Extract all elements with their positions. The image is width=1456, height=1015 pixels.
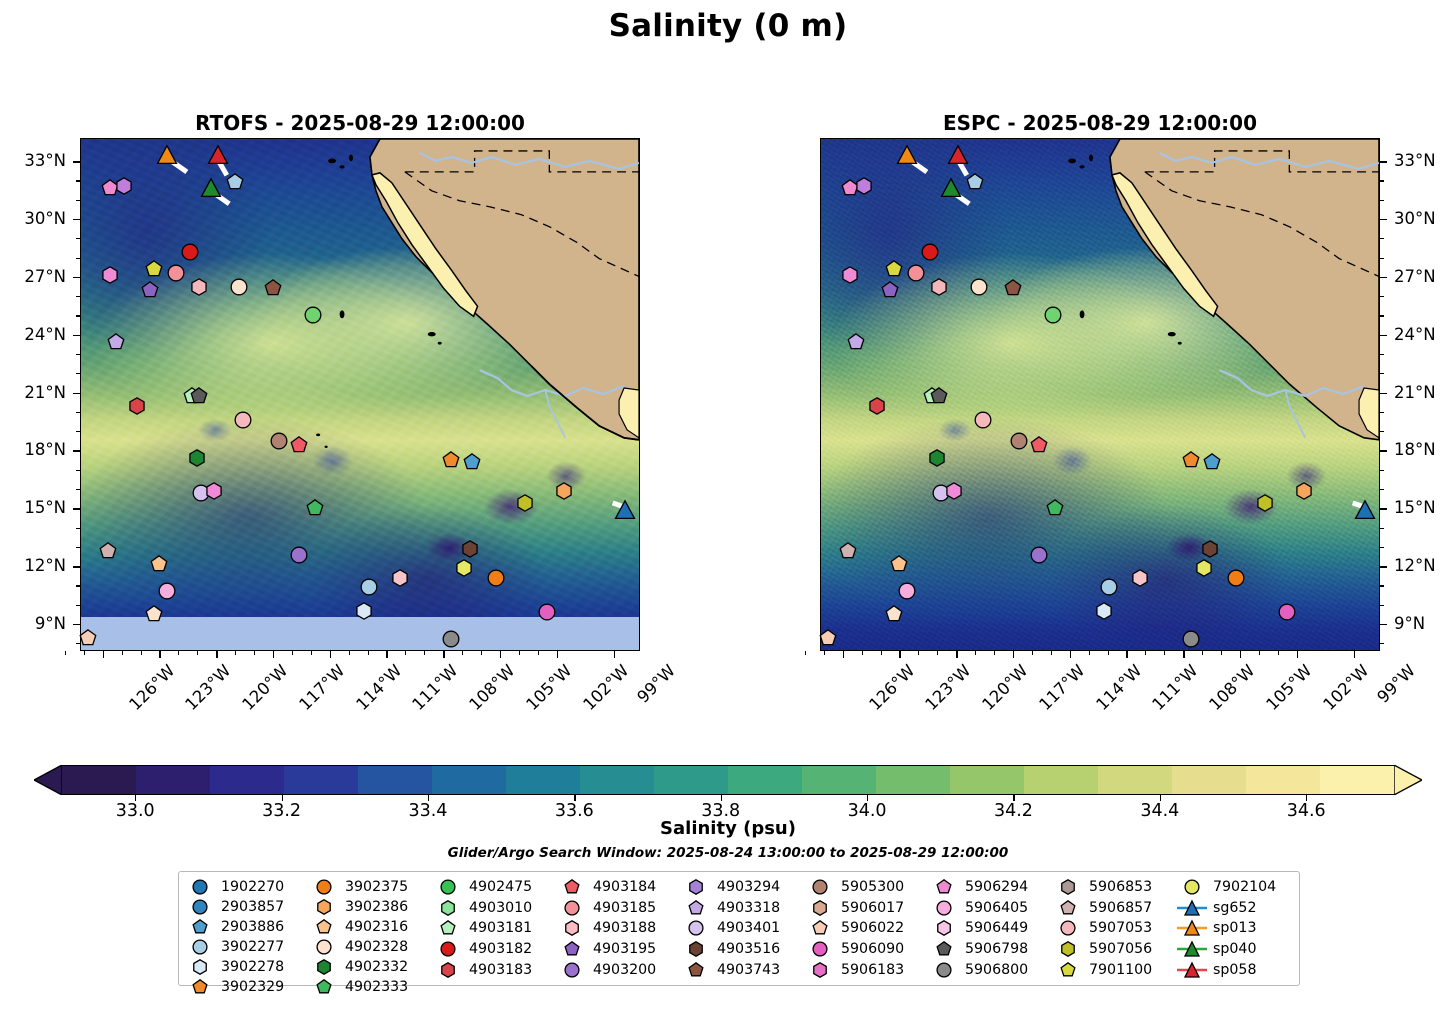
legend-item[interactable]: sg652 [1177,898,1289,919]
x-minor-tick [1202,651,1203,655]
legend-item[interactable]: 4903743 [681,959,805,980]
y-minor-tick [1380,643,1384,644]
glider-marker[interactable] [208,145,229,166]
argo-float-marker[interactable] [1004,280,1021,297]
legend-item[interactable]: 4902333 [309,977,433,997]
argo-float-marker[interactable] [1031,546,1048,563]
argo-float-marker[interactable] [1201,540,1218,557]
x-tick-label: 126°W [865,661,918,714]
legend-item[interactable]: 5907053 [1053,918,1177,939]
legend-item[interactable]: 5906183 [805,959,929,980]
legend-item[interactable]: 4903318 [681,898,805,919]
legend-marker-icon [309,897,339,917]
y-minor-tick [1380,238,1384,239]
legend-label: 4902475 [469,879,532,895]
legend-item[interactable]: 4902316 [309,917,433,937]
argo-float-marker[interactable] [970,278,987,295]
glider-marker[interactable] [897,145,918,166]
legend-marker-icon [557,898,587,918]
y-minor-tick [76,605,80,606]
x-tick [386,651,387,658]
legend-marker-icon [929,898,959,918]
legend-item[interactable]: 3902278 [185,957,309,977]
legend-marker-icon [929,960,959,980]
map-canvas-rtofs[interactable] [80,138,640,651]
argo-float-marker[interactable] [1256,494,1273,511]
legend-label: 4903188 [593,920,656,936]
argo-float-marker[interactable] [855,178,872,195]
legend-item[interactable]: 3902329 [185,977,309,997]
legend-item[interactable]: 5906405 [929,898,1053,919]
x-tick [273,651,274,658]
legend-marker-icon [929,877,959,897]
legend-item[interactable]: 5906857 [1053,898,1177,919]
x-tick-label: 123°W [922,661,975,714]
legend-label: 3902386 [345,899,408,915]
x-tick-label: 108°W [1206,661,1259,714]
argo-float-marker[interactable] [842,266,859,283]
y-minor-tick [76,373,80,374]
legend-item[interactable]: sp013 [1177,918,1289,939]
x-minor-tick [481,651,482,655]
legend-item[interactable]: 4903010 [433,898,557,919]
x-tick-label: 108°W [466,661,519,714]
argo-float-marker[interactable] [899,583,916,600]
argo-float-marker[interactable] [361,579,378,596]
argo-float-marker[interactable] [442,631,459,648]
legend-item[interactable]: 5905300 [805,877,929,898]
legend-item[interactable]: 3902277 [185,937,309,957]
glider-marker[interactable] [614,500,635,521]
x-tick [500,651,501,658]
x-minor-tick [462,651,463,655]
x-minor-tick [862,651,863,655]
legend-marker-icon [185,957,215,977]
glider-marker[interactable] [157,145,178,166]
argo-float-marker[interactable] [847,334,864,351]
argo-float-marker[interactable] [967,174,984,191]
legend-marker-icon [681,918,711,938]
legend-item[interactable]: 4903516 [681,939,805,960]
argo-float-marker[interactable] [539,604,556,621]
y-tick-label: 15°N [1394,498,1436,517]
x-tick-label: 99°W [1373,661,1419,707]
legend-item[interactable]: 4903195 [557,939,681,960]
legend-label: 4903401 [717,920,780,936]
x-minor-tick [918,651,919,655]
argo-float-marker[interactable] [463,454,480,471]
legend-item[interactable]: 5907056 [1053,939,1177,960]
legend-marker-icon [681,960,711,980]
panel-title-espc: ESPC - 2025-08-29 12:00:00 [820,111,1380,135]
legend-item[interactable]: 2903857 [185,897,309,917]
legend-label: 5906090 [841,941,904,957]
argo-float-marker[interactable] [230,278,247,295]
argo-float-marker[interactable] [191,388,208,405]
legend-item[interactable]: 4902328 [309,937,433,957]
x-tick [443,651,444,658]
legend-item[interactable]: 4903200 [557,959,681,980]
colorbar: 33.033.233.433.633.834.034.234.434.6 [34,765,1422,795]
argo-float-marker[interactable] [291,436,308,453]
x-minor-tick [254,651,255,655]
x-minor-tick [1089,651,1090,655]
argo-float-marker[interactable] [946,482,963,499]
legend-item[interactable]: 4903184 [557,877,681,898]
legend-label: 5906022 [841,920,904,936]
legend-label: 4903516 [717,941,780,957]
argo-float-marker[interactable] [488,569,505,586]
argo-float-marker[interactable] [1101,579,1118,596]
x-tick [1070,651,1071,658]
argo-float-marker[interactable] [456,560,473,577]
argo-float-marker[interactable] [191,278,208,295]
legend-label: 4903743 [717,962,780,978]
panel-title-rtofs: RTOFS - 2025-08-29 12:00:00 [80,111,640,135]
argo-float-marker[interactable] [1182,631,1199,648]
x-minor-tick [1108,651,1109,655]
legend-item[interactable]: 4903183 [433,959,557,980]
legend-item[interactable]: 4903294 [681,877,805,898]
glider-marker[interactable] [948,145,969,166]
y-minor-tick [76,547,80,548]
colorbar-extend-max [1394,765,1422,795]
legend-marker-icon [681,939,711,959]
legend-marker-icon [433,877,463,897]
y-tick-label: 9°N [35,614,66,633]
legend-column: 49031844903185490318849031954903200 [557,877,681,980]
y-tick-label: 12°N [1394,556,1436,575]
glider-marker[interactable] [1354,500,1375,521]
x-tick-label: 120°W [979,661,1032,714]
legend-item[interactable]: 5906294 [929,877,1053,898]
x-minor-tick [1145,651,1146,655]
x-tick [1297,651,1298,658]
argo-float-marker[interactable] [304,307,321,324]
x-minor-tick [805,651,806,655]
legend-label: 2903886 [221,919,284,935]
x-tick [1354,651,1355,658]
argo-float-marker[interactable] [1279,604,1296,621]
y-tick-label: 30°N [1394,209,1436,228]
y-minor-tick [76,296,80,297]
argo-float-marker[interactable] [929,450,946,467]
legend-item[interactable]: 4903182 [433,939,557,960]
legend-item[interactable]: 5906449 [929,918,1053,939]
legend-marker-icon [805,898,835,918]
argo-float-marker[interactable] [1296,482,1313,499]
x-minor-tick [178,651,179,655]
argo-float-marker[interactable] [102,266,119,283]
legend-item[interactable]: 1902270 [185,877,309,897]
legend-marker-icon [185,977,215,997]
colorbar-extend-min [34,765,62,795]
legend-label: 4903195 [593,941,656,957]
y-minor-tick [1380,315,1384,316]
y-tick-label: 21°N [24,383,66,402]
legend-column: 59068535906857590705359070567901100 [1053,877,1177,980]
legend-item[interactable]: 5906853 [1053,877,1177,898]
argo-float-marker[interactable] [206,482,223,499]
y-minor-tick [1380,470,1384,471]
x-tick-label: 111°W [1149,661,1202,714]
legend-marker-icon [929,939,959,959]
argo-float-marker[interactable] [516,494,533,511]
y-tick-label: 21°N [1394,383,1436,402]
argo-float-marker[interactable] [100,542,117,559]
argo-float-marker[interactable] [264,280,281,297]
x-tick-label: 120°W [239,661,292,714]
y-minor-tick [76,431,80,432]
colorbar-title: Salinity (psu) [0,818,1456,839]
legend-item[interactable]: 5906800 [929,959,1053,980]
legend-label: 5906857 [1089,900,1152,916]
land-overlay-rtofs [81,139,639,650]
legend-marker-icon [1053,939,1083,959]
legend-label: 3902277 [221,939,284,955]
legend-marker-icon [309,917,339,937]
argo-float-marker[interactable] [1031,436,1048,453]
x-minor-tick [122,651,123,655]
y-minor-tick [1380,180,1384,181]
argo-float-marker[interactable] [931,388,948,405]
legend-label: 5906017 [841,900,904,916]
x-minor-tick [1051,651,1052,655]
legend-marker-icon [805,939,835,959]
argo-float-marker[interactable] [151,556,168,573]
legend-label: 4903200 [593,962,656,978]
legend-marker-icon [557,960,587,980]
legend-marker-icon [309,977,339,997]
y-tick [1380,450,1387,451]
y-minor-tick [1380,585,1384,586]
argo-float-marker[interactable] [1196,560,1213,577]
platform-legend: 1902270290385729038863902277390227839023… [178,871,1300,986]
argo-float-marker[interactable] [1046,500,1063,517]
y-tick-label: 33°N [1394,151,1436,170]
y-minor-tick [76,489,80,490]
y-minor-tick [76,238,80,239]
x-tick-label: 114°W [352,661,405,714]
legend-label: 4903318 [717,900,780,916]
legend-label: 5907056 [1089,941,1152,957]
legend-marker-icon [929,918,959,938]
x-tick-label: 126°W [125,661,178,714]
argo-float-marker[interactable] [270,432,287,449]
argo-float-marker[interactable] [107,334,124,351]
y-minor-tick [1380,605,1384,606]
legend-label: 5906183 [841,962,904,978]
y-tick [1380,508,1387,509]
argo-float-marker[interactable] [1044,307,1061,324]
argo-float-marker[interactable] [931,278,948,295]
argo-float-marker[interactable] [1131,569,1148,586]
legend-label: 5905300 [841,879,904,895]
y-minor-tick [1380,258,1384,259]
y-minor-tick [76,412,80,413]
legend-item[interactable]: 7901100 [1053,959,1177,980]
x-tick [614,651,615,658]
argo-float-marker[interactable] [181,243,198,260]
argo-float-marker[interactable] [291,546,308,563]
legend-label: 4903183 [469,962,532,978]
argo-float-marker[interactable] [234,411,251,428]
argo-float-marker[interactable] [556,482,573,499]
argo-float-marker[interactable] [840,542,857,559]
x-tick [1240,651,1241,658]
y-tick-label: 27°N [24,267,66,286]
argo-float-marker[interactable] [145,606,162,623]
x-tick-label: 99°W [633,661,679,707]
legend-marker-icon [433,960,463,980]
legend-marker-icon [557,939,587,959]
argo-float-marker[interactable] [168,265,185,282]
legend-item[interactable]: 2903886 [185,917,309,937]
x-tick-label: 111°W [409,661,462,714]
argo-float-marker[interactable] [868,398,885,415]
legend-item[interactable]: 4902475 [433,877,557,898]
legend-item[interactable]: 5906022 [805,918,929,939]
argo-float-marker[interactable] [145,261,162,278]
y-tick [73,161,80,162]
argo-float-marker[interactable] [115,178,132,195]
argo-float-marker[interactable] [1182,452,1199,469]
map-panel-espc: ESPC - 2025-08-29 12:00:00 [820,138,1380,651]
y-minor-tick [1380,296,1384,297]
legend-item[interactable]: 3902375 [309,877,433,897]
x-tick [1013,651,1014,658]
y-tick [1380,161,1387,162]
land-overlay-espc [821,139,1379,650]
x-tick [216,651,217,658]
legend-label: 3902375 [345,879,408,895]
y-tick-label: 33°N [24,151,66,170]
legend-marker-icon [681,877,711,897]
x-minor-tick [84,651,85,655]
x-minor-tick [1221,651,1222,655]
legend-label: sp040 [1213,941,1256,957]
map-canvas-espc[interactable] [820,138,1380,651]
legend-column: 7902104sg652sp013sp040sp058 [1177,877,1289,980]
y-minor-tick [76,180,80,181]
argo-float-marker[interactable] [908,265,925,282]
legend-marker-icon [805,960,835,980]
argo-float-marker[interactable] [1010,432,1027,449]
argo-float-marker[interactable] [159,583,176,600]
argo-float-marker[interactable] [442,452,459,469]
x-minor-tick [141,651,142,655]
y-tick [1380,277,1387,278]
legend-column: 1902270290385729038863902277390227839023… [185,877,309,980]
legend-item[interactable]: 3902386 [309,897,433,917]
argo-float-marker[interactable] [921,243,938,260]
x-minor-tick [424,651,425,655]
legend-label: sp058 [1213,962,1256,978]
argo-float-marker[interactable] [1228,569,1245,586]
argo-float-marker[interactable] [461,540,478,557]
argo-float-marker[interactable] [355,602,372,619]
argo-float-marker[interactable] [128,398,145,415]
argo-float-marker[interactable] [306,500,323,517]
legend-marker-icon [185,937,215,957]
legend-column: 49024754903010490318149031824903183 [433,877,557,980]
legend-item[interactable]: 5906090 [805,939,929,960]
legend-marker-icon [185,917,215,937]
legend-label: 4902328 [345,939,408,955]
y-minor-tick [76,528,80,529]
glider-marker[interactable] [200,178,221,199]
y-tick [73,508,80,509]
legend-item[interactable]: 4902332 [309,957,433,977]
legend-marker-icon [1177,877,1207,897]
legend-marker-icon [557,877,587,897]
legend-item[interactable]: 5906017 [805,898,929,919]
legend-label: 5906800 [965,962,1028,978]
legend-label: 5906853 [1089,879,1152,895]
y-tick [73,450,80,451]
y-minor-tick [1380,547,1384,548]
y-minor-tick [1380,354,1384,355]
x-minor-tick [1259,651,1260,655]
argo-float-marker[interactable] [227,174,244,191]
legend-label: 5907053 [1089,920,1152,936]
x-tick [1126,651,1127,658]
glider-marker[interactable] [940,178,961,199]
x-tick-label: 102°W [579,661,632,714]
y-tick-label: 12°N [24,556,66,575]
legend-item[interactable]: 4903188 [557,918,681,939]
argo-float-marker[interactable] [891,556,908,573]
legend-item[interactable]: 5906798 [929,939,1053,960]
legend-marker-icon [1177,918,1207,938]
argo-float-marker[interactable] [1095,602,1112,619]
x-tick [899,651,900,658]
legend-item[interactable]: 4903401 [681,918,805,939]
argo-float-marker[interactable] [974,411,991,428]
legend-column: 59053005906017590602259060905906183 [805,877,929,980]
y-minor-tick [1380,200,1384,201]
legend-item[interactable]: 7902104 [1177,877,1289,898]
argo-float-marker[interactable] [1203,454,1220,471]
y-tick [73,566,80,567]
legend-label: 4903010 [469,900,532,916]
y-tick [73,277,80,278]
argo-float-marker[interactable] [819,629,836,646]
legend-item[interactable]: sp058 [1177,959,1289,980]
y-tick [1380,566,1387,567]
argo-float-marker[interactable] [885,606,902,623]
legend-item[interactable]: 4903185 [557,898,681,919]
legend-marker-icon [1053,877,1083,897]
legend-label: sg652 [1213,900,1256,916]
argo-float-marker[interactable] [391,569,408,586]
argo-float-marker[interactable] [189,450,206,467]
x-minor-tick [349,651,350,655]
legend-label: 4903182 [469,941,532,957]
y-tick-label: 18°N [24,440,66,459]
argo-float-marker[interactable] [142,282,159,299]
argo-float-marker[interactable] [79,629,96,646]
x-minor-tick [235,651,236,655]
legend-item[interactable]: 4903181 [433,918,557,939]
x-minor-tick [519,651,520,655]
legend-marker-icon [433,939,463,959]
y-minor-tick [76,585,80,586]
legend-item[interactable]: sp040 [1177,939,1289,960]
argo-float-marker[interactable] [885,261,902,278]
x-minor-tick [65,651,66,655]
argo-float-marker[interactable] [882,282,899,299]
